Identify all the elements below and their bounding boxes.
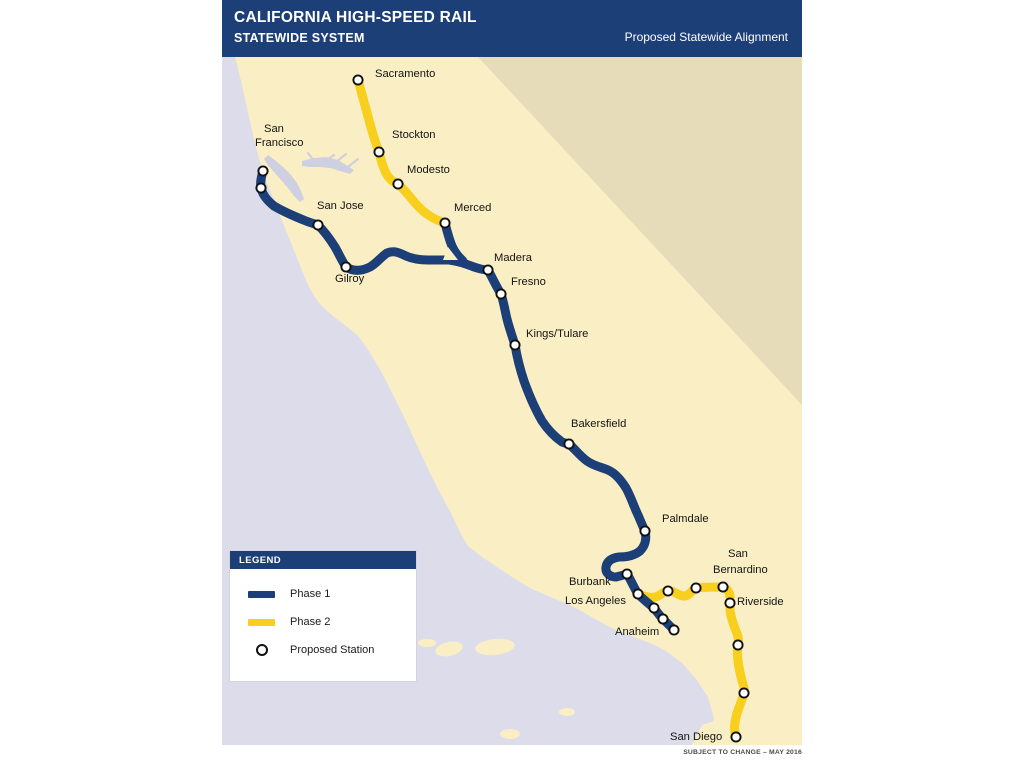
map-poster: CALIFORNIA HIGH-SPEED RAIL STATEWIDE SYS… (222, 0, 802, 745)
station-marker-riverside[interactable] (725, 598, 734, 607)
station-marker-san-jose[interactable] (313, 220, 322, 229)
city-label-Merced: Merced (454, 202, 491, 214)
station-marker-kings-tulare[interactable] (510, 340, 519, 349)
page-title: CALIFORNIA HIGH-SPEED RAIL (234, 9, 477, 27)
legend-item-proposed-station[interactable]: Proposed Station (230, 636, 416, 664)
city-label-Kings/Tulare: Kings/Tulare (526, 328, 588, 340)
station-marker-sacramento[interactable] (353, 75, 362, 84)
legend-panel: LEGEND Phase 1 Phase 2 Proposed Station (230, 551, 416, 681)
page-subtitle: STATEWIDE SYSTEM (234, 31, 365, 45)
city-label-Anaheim: Anaheim (615, 626, 659, 638)
city-label-Burbank: Burbank (569, 576, 611, 588)
city-label-Gilroy: Gilroy (335, 273, 365, 285)
station-marker-stockton[interactable] (374, 147, 383, 156)
city-label-San-Bernardino: Bernardino (713, 564, 768, 576)
station-marker-madera[interactable] (483, 265, 492, 274)
station-marker-gilroy[interactable] (341, 262, 350, 271)
station-marker-palmdale[interactable] (640, 526, 649, 535)
legend-title: LEGEND (230, 551, 416, 569)
city-label-Riverside: Riverside (737, 596, 784, 608)
legend-items: Phase 1 Phase 2 Proposed Station (230, 569, 416, 664)
disclaimer-note: SUBJECT TO CHANGE – MAY 2016 (0, 749, 1024, 756)
city-label-Fresno: Fresno (511, 276, 546, 288)
phase-1-swatch (248, 591, 275, 598)
city-label-San-Francisco: Francisco (255, 137, 304, 149)
station-marker-san-diego[interactable] (731, 732, 740, 741)
station-marker-murrieta[interactable] (733, 640, 742, 649)
legend-item-label: Phase 1 (290, 588, 330, 600)
station-marker-millbrae[interactable] (256, 183, 265, 192)
header-caption: Proposed Statewide Alignment (625, 30, 788, 44)
city-label-Los-Angeles: Los Angeles (565, 595, 626, 607)
station-marker-fresno[interactable] (496, 289, 505, 298)
page-root: CALIFORNIA HIGH-SPEED RAIL STATEWIDE SYS… (0, 0, 1024, 768)
poster-header: CALIFORNIA HIGH-SPEED RAIL STATEWIDE SYS… (222, 0, 802, 57)
station-marker-anaheim[interactable] (669, 625, 678, 634)
station-marker-san-francisco[interactable] (258, 166, 267, 175)
station-marker-ontario[interactable] (663, 586, 672, 595)
city-label-San-Jose: San Jose (317, 200, 364, 212)
city-label-Madera: Madera (494, 252, 533, 264)
city-label-San-Francisco: San (264, 123, 284, 135)
city-label-Palmdale: Palmdale (662, 513, 709, 525)
city-label-Sacramento: Sacramento (375, 68, 435, 80)
station-marker-escondido[interactable] (739, 688, 748, 697)
station-marker-bakersfield[interactable] (564, 439, 573, 448)
station-marker-fullerton[interactable] (658, 614, 667, 623)
station-marker-norwalk[interactable] (649, 603, 658, 612)
station-marker-merced[interactable] (440, 218, 449, 227)
city-label-Stockton: Stockton (392, 129, 436, 141)
legend-item-phase-2[interactable]: Phase 2 (230, 608, 416, 636)
legend-item-label: Proposed Station (290, 644, 374, 656)
station-marker-san-bernardino[interactable] (691, 583, 700, 592)
station-marker-los-angeles[interactable] (633, 589, 642, 598)
legend-item-phase-1[interactable]: Phase 1 (230, 580, 416, 608)
city-label-Bakersfield: Bakersfield (571, 418, 626, 430)
station-marker-icon (248, 644, 275, 656)
city-label-San-Diego: San Diego (670, 731, 722, 743)
station-marker-modesto[interactable] (393, 179, 402, 188)
station-marker-sb-east[interactable] (718, 582, 727, 591)
legend-item-label: Phase 2 (290, 616, 330, 628)
city-label-Modesto: Modesto (407, 164, 450, 176)
phase-2-swatch (248, 619, 275, 626)
station-marker-burbank[interactable] (622, 569, 631, 578)
city-label-San-Bernardino: San (728, 548, 748, 560)
